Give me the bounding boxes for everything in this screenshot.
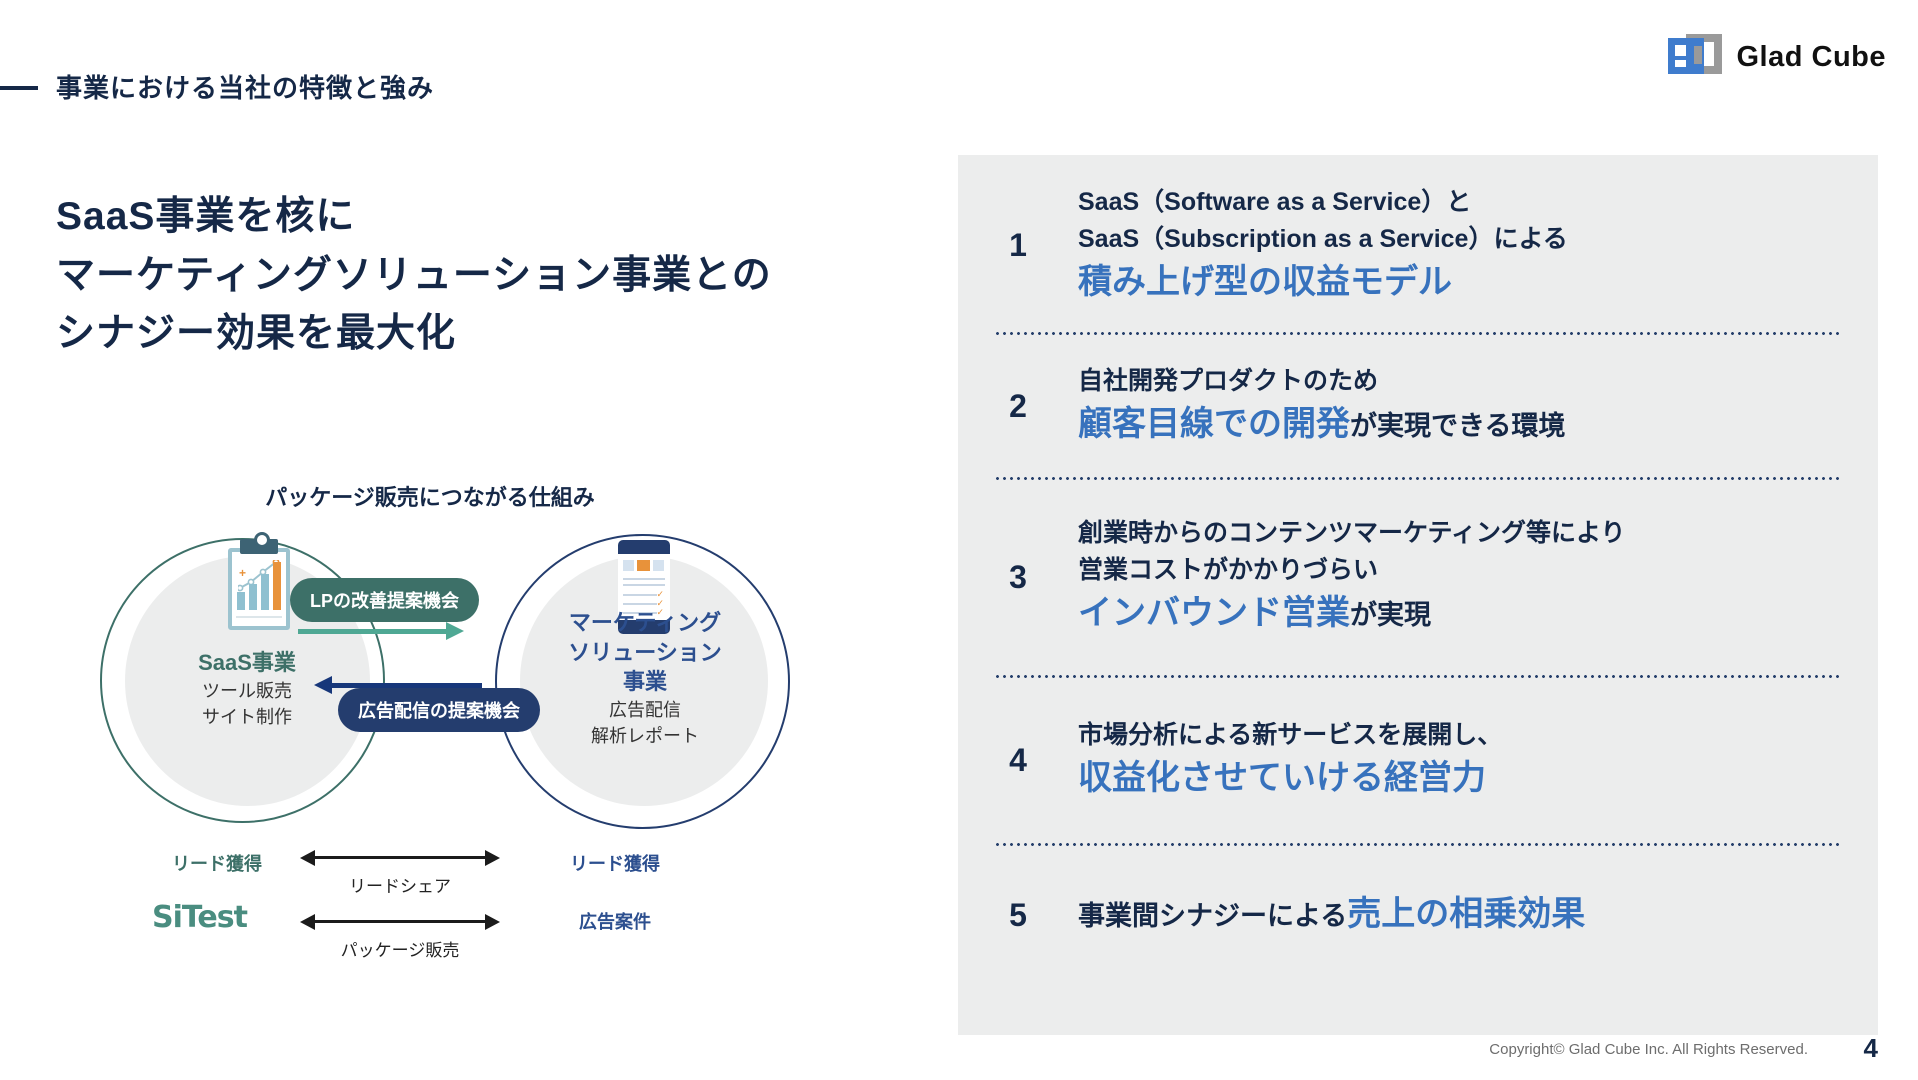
strength-5-highlight: 売上の相乗効果 xyxy=(1347,895,1585,933)
clipboard-chart-icon: + xyxy=(228,548,290,630)
strength-2-line-2: 顧客目線での開発が実現できる環境 xyxy=(1078,400,1854,449)
lead-share-arrow-right-head-icon xyxy=(485,850,500,866)
marketing-label-main-3: 事業 xyxy=(530,667,760,697)
marketing-circle-label: マーケティング ソリューション 事業 広告配信 解析レポート xyxy=(530,608,760,749)
clipboard-bar-3-icon xyxy=(261,574,269,610)
left-lead-label: リード獲得 xyxy=(122,850,312,876)
strength-1-text: SaaS（Software as a Service）と SaaS（Subscr… xyxy=(1078,165,1878,325)
clipboard-bar-2-icon xyxy=(249,584,257,610)
strength-item-2: 2 自社開発プロダクトのため 顧客目線での開発が実現できる環境 xyxy=(958,347,1878,465)
strengths-panel: 1 SaaS（Software as a Service）と SaaS（Subs… xyxy=(958,155,1878,1035)
strength-1-number: 1 xyxy=(958,165,1078,325)
divider-3 xyxy=(994,675,1842,678)
strength-2-number: 2 xyxy=(958,347,1078,465)
strength-5-number: 5 xyxy=(958,860,1078,970)
lead-share-caption: リードシェア xyxy=(300,872,500,897)
slide-root: 事業における当社の特徴と強み Glad Cube SaaS事業を核に マーケティ… xyxy=(0,0,1918,1080)
arrow-left-head-icon xyxy=(314,676,332,694)
ad-case-label: 広告案件 xyxy=(520,908,710,934)
logo-mark-icon xyxy=(1668,34,1722,80)
strength-4-line-1: 市場分析による新サービスを展開し、 xyxy=(1078,717,1854,754)
diagram-title: パッケージ販売につながる仕組み xyxy=(80,480,780,512)
strength-3-rest: が実現 xyxy=(1350,600,1431,630)
package-sales-arrow-shaft-icon xyxy=(314,920,486,923)
clipboard-bar-4-icon xyxy=(273,562,281,610)
badge-ad-delivery: 広告配信の提案機会 xyxy=(338,688,540,732)
package-sales-arrow-icon xyxy=(300,912,500,932)
phone-tile-1-icon xyxy=(623,560,634,571)
phone-line-1-icon xyxy=(623,578,665,580)
strength-1-highlight: 積み上げ型の収益モデル xyxy=(1078,258,1854,306)
arrow-right-head-icon xyxy=(446,622,464,640)
clipboard-clip-icon xyxy=(240,539,278,554)
logo-text: Glad Cube xyxy=(1736,41,1886,74)
strength-3-line-2: 営業コストがかかりづらい xyxy=(1078,552,1854,589)
strength-2-line-1: 自社開発プロダクトのため xyxy=(1078,363,1854,400)
marketing-label-main-1: マーケティング xyxy=(530,608,760,638)
clipboard-baseline-icon xyxy=(236,616,282,618)
saas-label-main: SaaS事業 xyxy=(132,648,362,678)
strength-4-highlight: 収益化させていける経営力 xyxy=(1078,754,1854,802)
strength-item-3: 3 創業時からのコンテンツマーケティング等により 営業コストがかかりづらい イン… xyxy=(958,493,1878,661)
synergy-diagram: パッケージ販売につながる仕組み + xyxy=(80,480,870,1000)
strength-3-number: 3 xyxy=(958,493,1078,661)
phone-line-3-icon xyxy=(623,594,657,596)
phone-top-bar-icon xyxy=(618,540,670,554)
divider-2 xyxy=(994,477,1842,480)
marketing-label-sub-2: 解析レポート xyxy=(530,723,760,749)
package-sales-caption: パッケージ販売 xyxy=(300,936,500,961)
strength-item-5: 5 事業間シナジーによる売上の相乗効果 xyxy=(958,860,1878,970)
badge-lp-improvement: LPの改善提案機会 xyxy=(290,578,479,622)
strength-4-text: 市場分析による新サービスを展開し、 収益化させていける経営力 xyxy=(1078,695,1878,825)
lead-share-arrow-icon xyxy=(300,848,500,868)
lead-share-arrow-shaft-icon xyxy=(314,856,486,859)
headline: SaaS事業を核に マーケティングソリューション事業との シナジー効果を最大化 xyxy=(56,188,772,364)
headline-line-3: シナジー効果を最大化 xyxy=(56,305,772,364)
divider-4 xyxy=(994,843,1842,846)
strength-2-highlight: 顧客目線での開発 xyxy=(1078,405,1350,443)
strength-1-line-1: SaaS（Software as a Service）と xyxy=(1078,184,1854,221)
headline-line-2: マーケティングソリューション事業との xyxy=(56,247,772,306)
logo-notch-icon xyxy=(1694,46,1702,64)
sitest-logo-text: SiTest xyxy=(152,900,247,935)
copyright-text: Copyright© Glad Cube Inc. All Rights Res… xyxy=(1489,1041,1808,1058)
headline-line-1: SaaS事業を核に xyxy=(56,188,772,247)
arrow-right-shaft-icon xyxy=(298,629,450,634)
marketing-label-main-2: ソリューション xyxy=(530,638,760,668)
right-lead-label: リード獲得 xyxy=(520,850,710,876)
saas-label-sub-2: サイト制作 xyxy=(132,704,362,730)
phone-line-2-icon xyxy=(623,584,665,586)
strength-item-4: 4 市場分析による新サービスを展開し、 収益化させていける経営力 xyxy=(958,695,1878,825)
strength-5-line-1: 事業間シナジーによる売上の相乗効果 xyxy=(1078,890,1854,939)
strength-3-highlight: インバウンド営業 xyxy=(1078,594,1350,632)
glad-cube-logo: Glad Cube xyxy=(1668,34,1886,80)
strength-2-rest: が実現できる環境 xyxy=(1350,411,1565,441)
sitest-logo: SiTest xyxy=(152,900,282,934)
strength-3-text: 創業時からのコンテンツマーケティング等により 営業コストがかかりづらい インバウ… xyxy=(1078,493,1878,661)
package-sales-arrow-left-head-icon xyxy=(300,914,315,930)
strength-2-text: 自社開発プロダクトのため 顧客目線での開発が実現できる環境 xyxy=(1078,347,1878,465)
marketing-label-sub-1: 広告配信 xyxy=(530,697,760,723)
header-rule xyxy=(0,86,38,90)
package-sales-arrow-right-head-icon xyxy=(485,914,500,930)
phone-line-4-icon xyxy=(623,603,657,605)
strength-item-1: 1 SaaS（Software as a Service）と SaaS（Subs… xyxy=(958,165,1878,325)
strength-3-line-3: インバウンド営業が実現 xyxy=(1078,589,1854,638)
phone-tile-3-icon xyxy=(653,560,664,571)
page-title: 事業における当社の特徴と強み xyxy=(56,68,434,105)
strength-1-line-2: SaaS（Subscription as a Service）による xyxy=(1078,221,1854,258)
strength-3-line-1: 創業時からのコンテンツマーケティング等により xyxy=(1078,515,1854,552)
page-number: 4 xyxy=(1864,1033,1878,1064)
strength-5-text: 事業間シナジーによる売上の相乗効果 xyxy=(1078,860,1878,970)
divider-1 xyxy=(994,332,1842,335)
phone-tile-2-icon xyxy=(637,560,650,571)
strength-5-prefix: 事業間シナジーによる xyxy=(1078,901,1347,931)
lead-share-arrow-left-head-icon xyxy=(300,850,315,866)
clipboard-bar-1-icon xyxy=(237,592,245,610)
strength-4-number: 4 xyxy=(958,695,1078,825)
